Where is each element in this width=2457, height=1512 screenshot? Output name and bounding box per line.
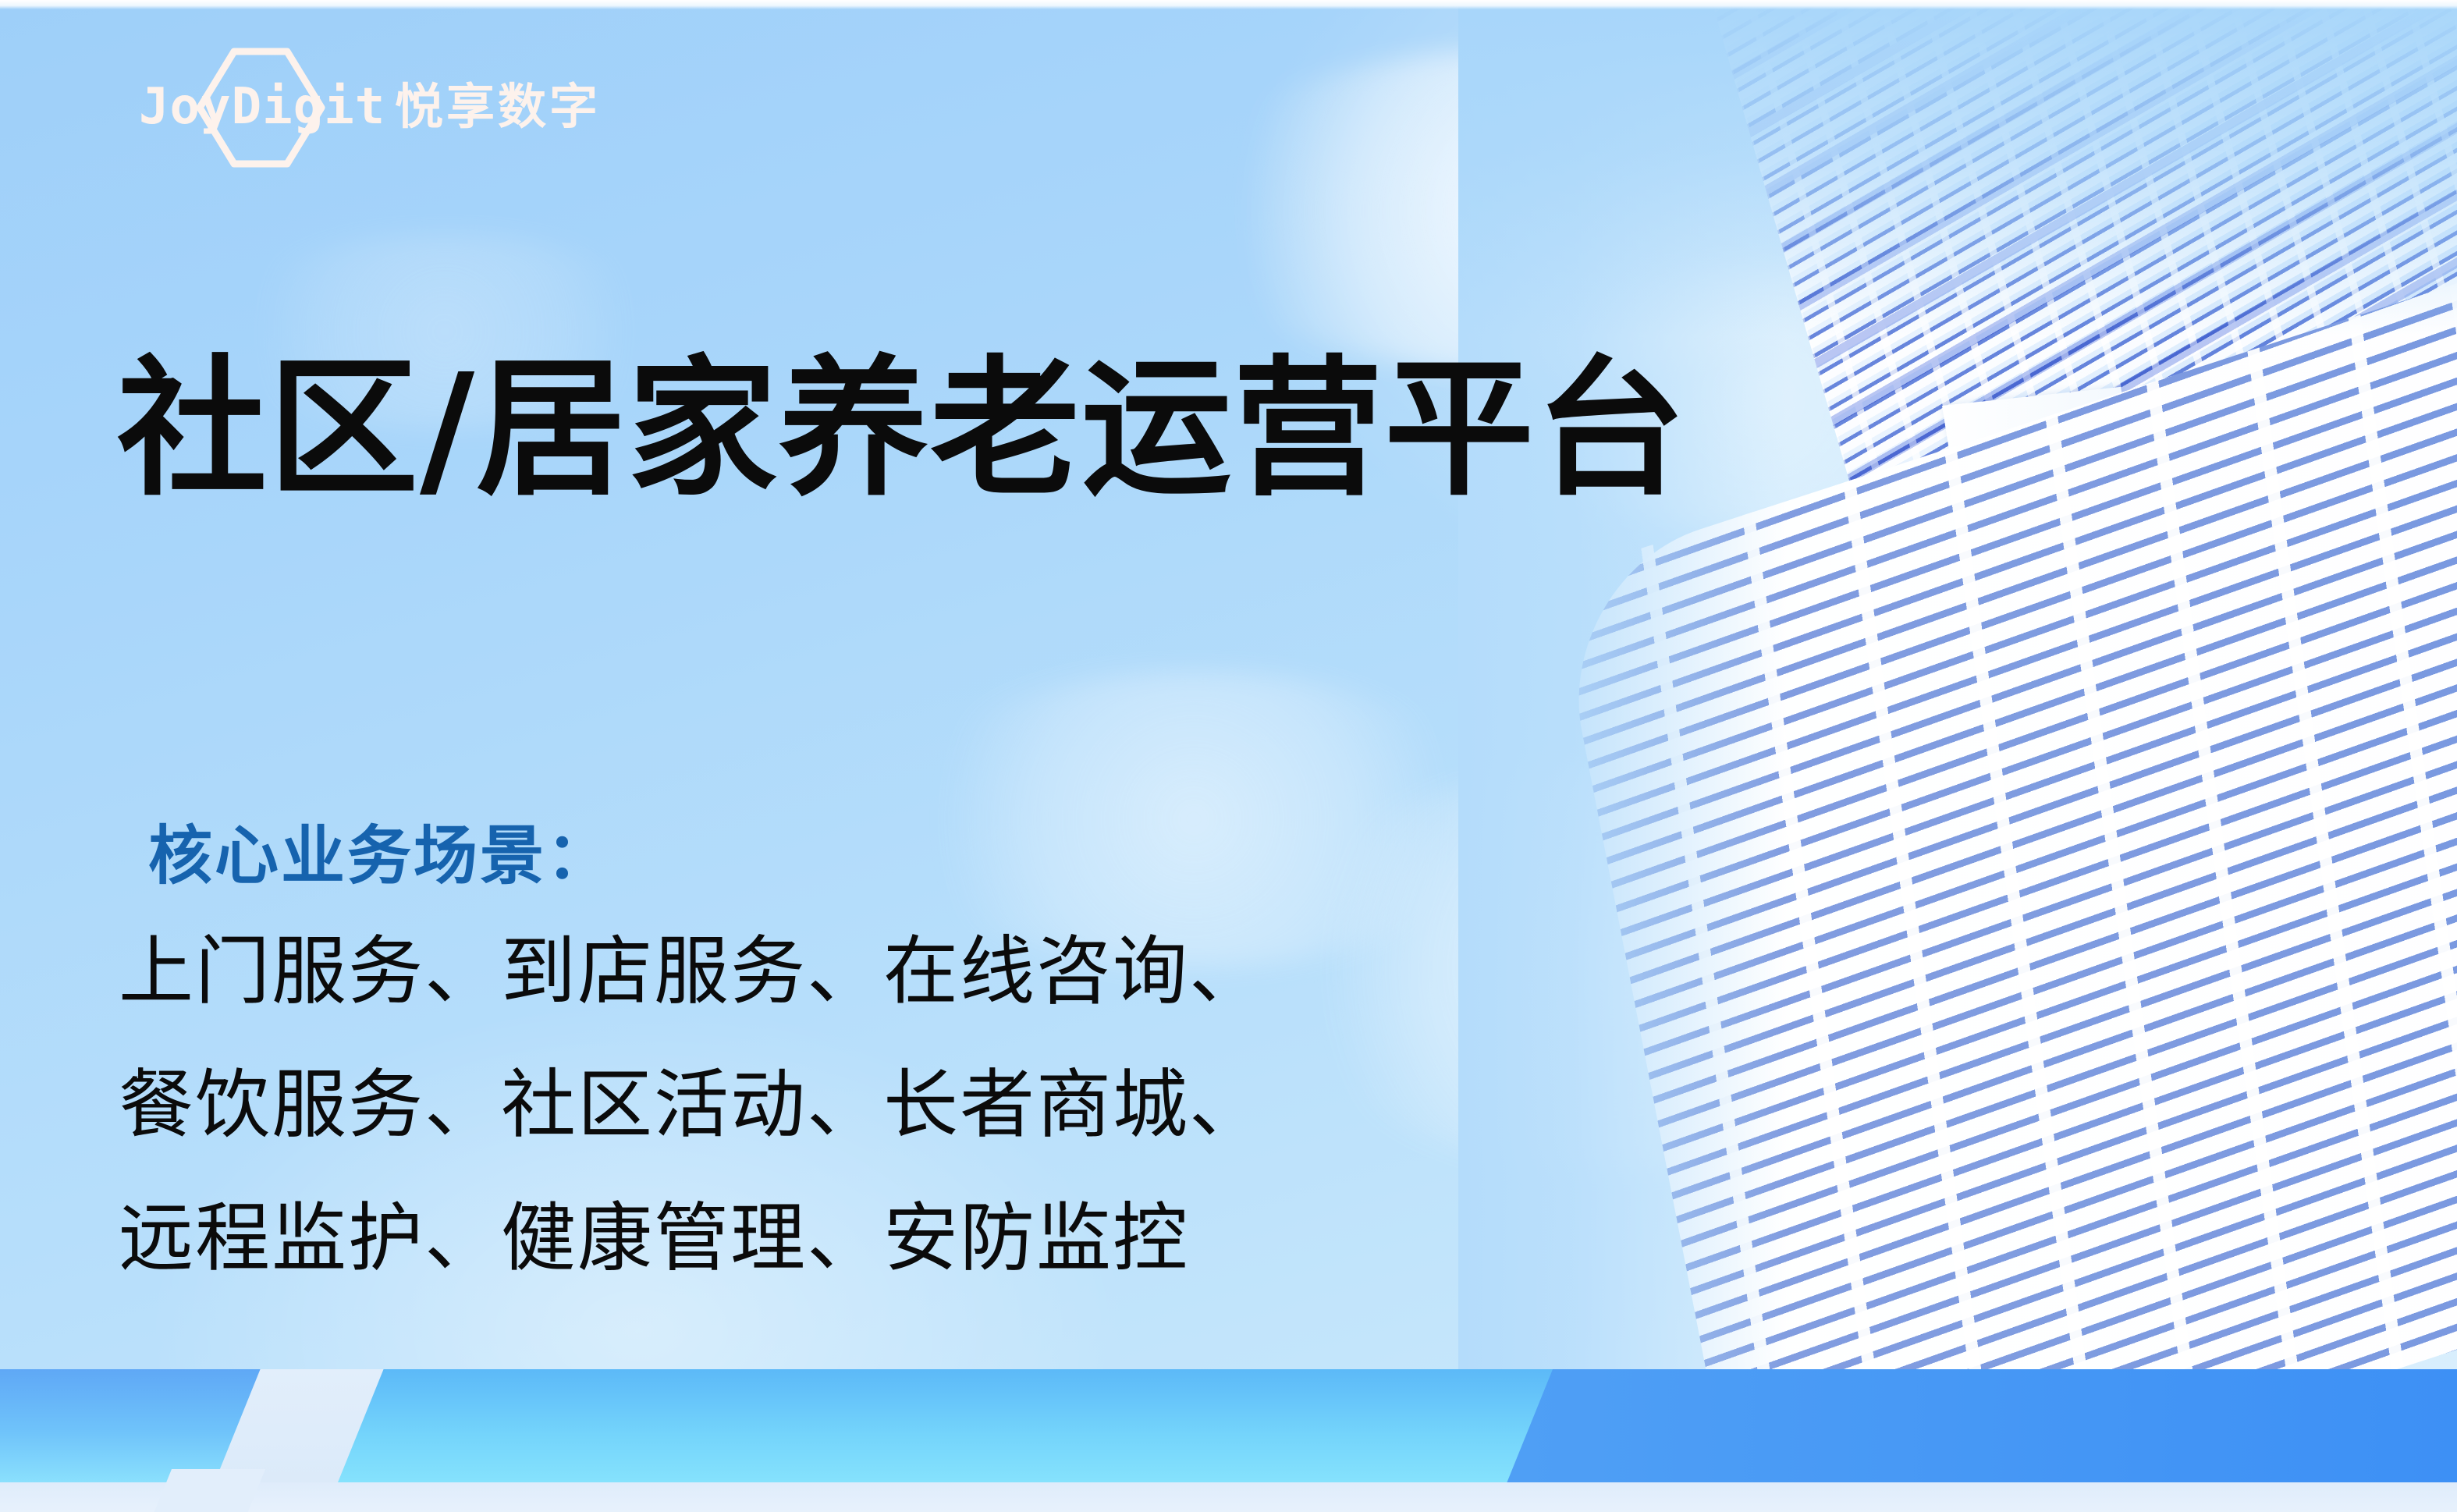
scenario-line: 餐饮服务、社区活动、长者商城、 [119, 1038, 1601, 1172]
brand-logo[interactable]: JoyDigit 悦享数字 [139, 64, 601, 150]
band-cyan-parallelogram [289, 1369, 1553, 1482]
logo-mark: JoyDigit [139, 64, 467, 150]
section-heading: 核心业务场景： [148, 822, 612, 892]
band-foot-wedge [153, 1469, 265, 1512]
scenario-line: 上门服务、到店服务、在线咨询、 [119, 905, 1601, 1038]
page-title: 社区/居家养老运营平台 [117, 350, 1687, 509]
slide-root: JoyDigit 悦享数字 社区/居家养老运营平台 核心业务场景： 上门服务、到… [0, 0, 2457, 1512]
band-bottom-strip [0, 1482, 2457, 1512]
scenario-list: 上门服务、到店服务、在线咨询、 餐饮服务、社区活动、长者商城、 远程监护、健康管… [119, 905, 1601, 1305]
bottom-decorative-band [0, 1369, 2457, 1512]
logo-latin-text: JoyDigit [139, 82, 385, 132]
top-white-strip [0, 0, 2457, 9]
scenario-line: 远程监护、健康管理、安防监控 [119, 1172, 1601, 1305]
